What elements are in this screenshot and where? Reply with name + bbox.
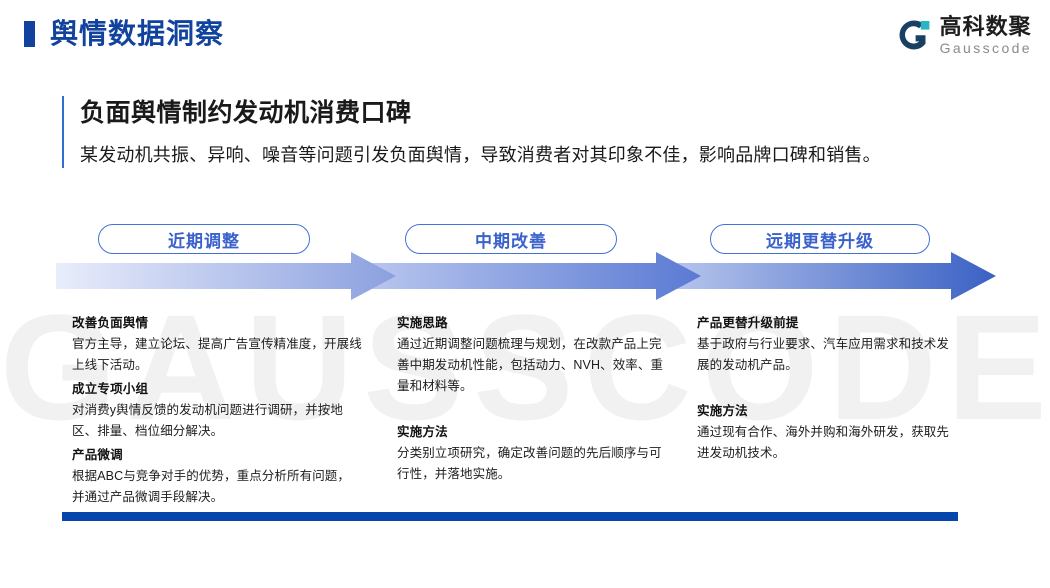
- content-block: 成立专项小组 对消费y舆情反馈的发动机问题进行调研，并按地区、排量、档位细分解决…: [72, 378, 362, 442]
- block-body: 通过近期调整问题梳理与规划，在改款产品上完善中期发动机性能，包括动力、NVH、效…: [397, 334, 667, 397]
- content-block: 产品微调 根据ABC与竞争对手的优势，重点分析所有问题，并通过产品微调手段解决。: [72, 444, 362, 508]
- page-title: 舆情数据洞察: [50, 15, 224, 53]
- block-body: 根据ABC与竞争对手的优势，重点分析所有问题，并通过产品微调手段解决。: [72, 466, 362, 508]
- block-heading: 实施思路: [397, 312, 667, 334]
- block-heading: 实施方法: [397, 421, 667, 443]
- stage-pill-mid-term[interactable]: 中期改善: [405, 224, 617, 254]
- logo-name-cn: 高科数聚: [940, 15, 1032, 39]
- block-body: 对消费y舆情反馈的发动机问题进行调研，并按地区、排量、档位细分解决。: [72, 400, 362, 442]
- content-block: 实施方法 通过现有合作、海外并购和海外研发，获取先进发动机技术。: [697, 400, 959, 464]
- stage-pill-near-term[interactable]: 近期调整: [98, 224, 310, 254]
- brand-logo: 高科数聚 Gausscode: [895, 12, 1032, 58]
- page-header: 舆情数据洞察 高科数聚 Gausscode: [0, 0, 1050, 72]
- stage-pill-long-term[interactable]: 远期更替升级: [710, 224, 930, 254]
- content-block: 产品更替升级前提 基于政府与行业要求、汽车应用需求和技术发展的发动机产品。: [697, 312, 959, 376]
- block-body: 基于政府与行业要求、汽车应用需求和技术发展的发动机产品。: [697, 334, 959, 376]
- column-mid-term: 实施思路 通过近期调整问题梳理与规划，在改款产品上完善中期发动机性能，包括动力、…: [397, 312, 667, 487]
- block-heading: 产品微调: [72, 444, 362, 466]
- column-near-term: 改善负面舆情 官方主导，建立论坛、提高广告宣传精准度，开展线上线下活动。 成立专…: [72, 312, 362, 510]
- header-bullet-icon: [24, 21, 35, 47]
- logo-text: 高科数聚 Gausscode: [940, 15, 1032, 56]
- block-body: 分类别立项研究，确定改善问题的先后顺序与可行性，并落地实施。: [397, 443, 667, 485]
- sub-title: 某发动机共振、异响、噪音等问题引发负面舆情，导致消费者对其印象不佳，影响品牌口碑…: [80, 142, 962, 168]
- block-spacer: [397, 399, 667, 421]
- block-heading: 改善负面舆情: [72, 312, 362, 334]
- bottom-accent-bar: [62, 512, 958, 521]
- column-long-term: 产品更替升级前提 基于政府与行业要求、汽车应用需求和技术发展的发动机产品。 实施…: [697, 312, 959, 466]
- block-heading: 产品更替升级前提: [697, 312, 959, 334]
- block-heading: 实施方法: [697, 400, 959, 422]
- content-block: 改善负面舆情 官方主导，建立论坛、提高广告宣传精准度，开展线上线下活动。: [72, 312, 362, 376]
- block-body: 通过现有合作、海外并购和海外研发，获取先进发动机技术。: [697, 422, 959, 464]
- block-body: 官方主导，建立论坛、提高广告宣传精准度，开展线上线下活动。: [72, 334, 362, 376]
- title-block: 负面舆情制约发动机消费口碑 某发动机共振、异响、噪音等问题引发负面舆情，导致消费…: [62, 96, 962, 168]
- block-spacer: [697, 378, 959, 400]
- logo-name-en: Gausscode: [940, 40, 1032, 56]
- content-block: 实施思路 通过近期调整问题梳理与规划，在改款产品上完善中期发动机性能，包括动力、…: [397, 312, 667, 397]
- block-heading: 成立专项小组: [72, 378, 362, 400]
- main-title: 负面舆情制约发动机消费口碑: [80, 96, 962, 130]
- timeline-arrow: [56, 252, 996, 300]
- content-block: 实施方法 分类别立项研究，确定改善问题的先后顺序与可行性，并落地实施。: [397, 421, 667, 485]
- gausscode-logo-icon: [895, 16, 933, 54]
